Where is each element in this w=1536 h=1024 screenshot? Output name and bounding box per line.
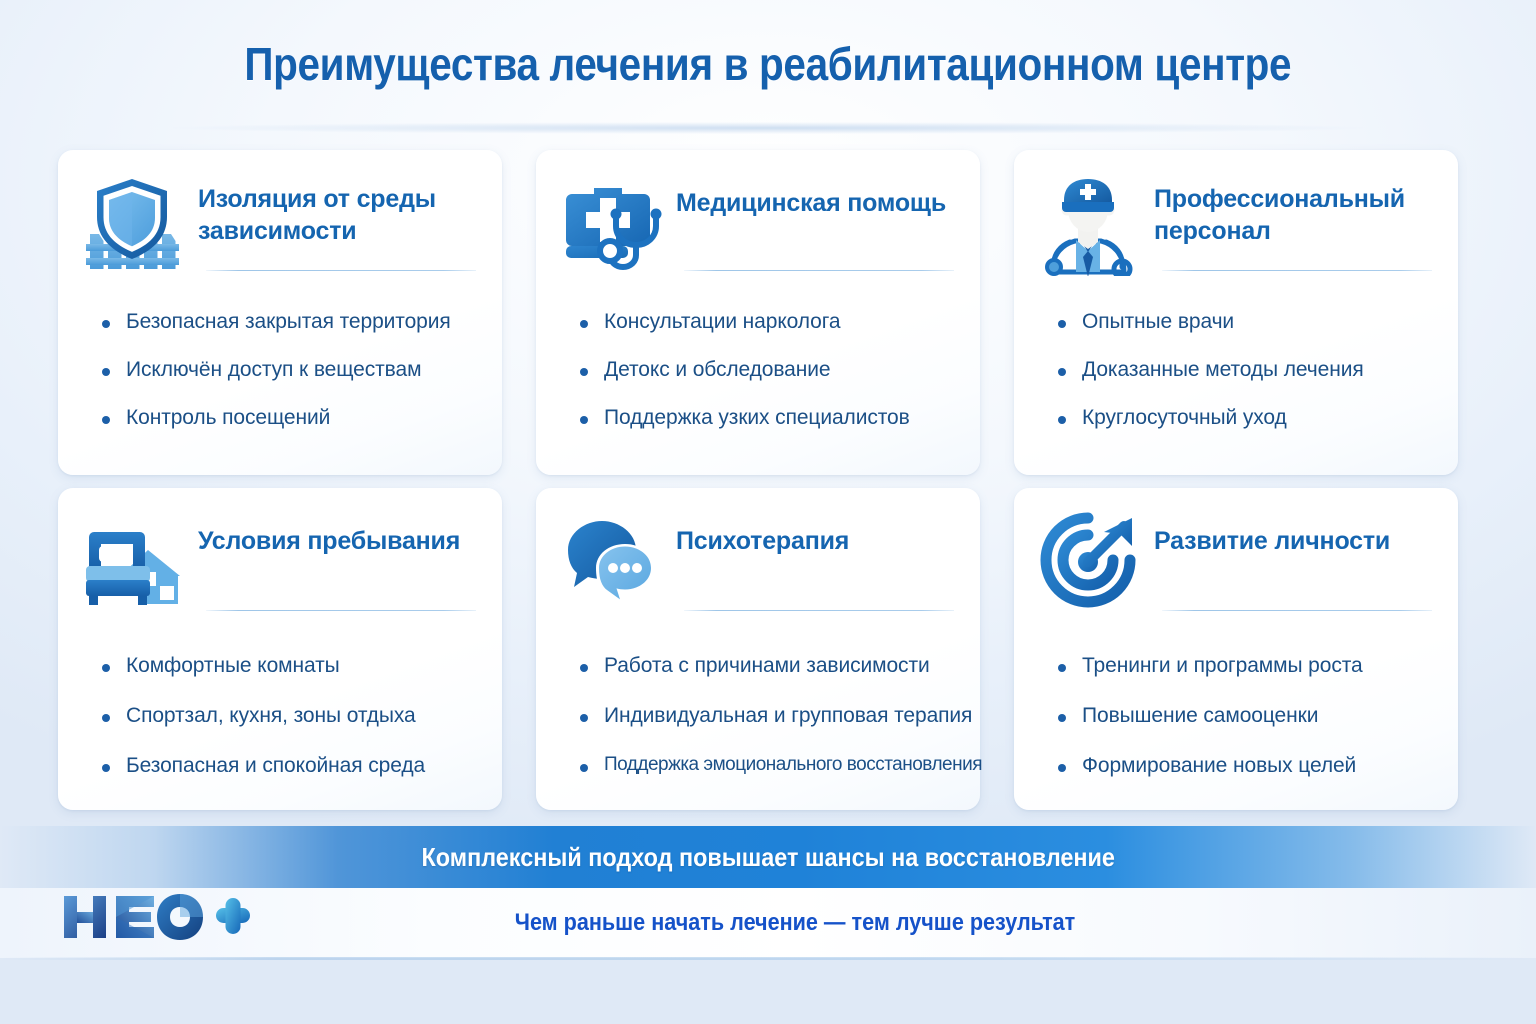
list-item: Доказанные методы лечения (1056, 358, 1432, 382)
list-item: Исключён доступ к веществам (100, 358, 476, 382)
benefit-card-accommodation[interactable]: Условия пребывания Комфортные комнаты Сп… (58, 488, 502, 810)
list-item: Поддержка узких специалистов (578, 406, 954, 430)
benefit-list: Комфортные комнаты Спортзал, кухня, зоны… (84, 654, 476, 778)
list-item: Спортзал, кухня, зоны отдыха (100, 704, 476, 728)
card-title: Профессиональный персонал (1154, 176, 1432, 247)
card-title: Условия пребывания (198, 514, 460, 558)
footer-banner-text: Комплексный подход повышает шансы на вос… (421, 842, 1114, 873)
card-divider (206, 270, 476, 271)
list-item: Формирование новых целей (1056, 754, 1432, 778)
benefit-list: Безопасная закрытая территория Исключён … (84, 310, 476, 430)
card-divider (1162, 270, 1432, 271)
card-header: Профессиональный персонал (1040, 176, 1432, 280)
page-title: Преимущества лечения в реабилитационном … (245, 37, 1292, 91)
bed-house-icon (80, 510, 184, 614)
card-header: Развитие личности (1040, 514, 1432, 618)
doctor-icon (1036, 172, 1140, 276)
benefit-list: Консультации нарколога Детокс и обследов… (562, 310, 954, 430)
card-title: Психотерапия (676, 514, 849, 558)
benefit-card-psychotherapy[interactable]: Психотерапия Работа с причинами зависимо… (536, 488, 980, 810)
benefit-card-personal-growth[interactable]: Развитие личности Тренинги и программы р… (1014, 488, 1458, 810)
benefit-card-isolation[interactable]: Изоляция от среды зависимости Безопасная… (58, 150, 502, 475)
list-item: Детокс и обследование (578, 358, 954, 382)
card-header: Условия пребывания (84, 514, 476, 618)
footer-subtitle: Чем раньше начать лечение — тем лучше ре… (77, 909, 1459, 937)
list-item: Безопасная и спокойная среда (100, 754, 476, 778)
list-item: Поддержка эмоционального восстановления (578, 754, 954, 776)
list-item: Индивидуальная и групповая терапия (578, 704, 954, 728)
card-header: Медицинская помощь (562, 176, 954, 280)
card-divider (684, 610, 954, 611)
neo-plus-logo[interactable] (58, 886, 253, 948)
list-item: Комфортные комнаты (100, 654, 476, 678)
list-item: Контроль посещений (100, 406, 476, 430)
card-title: Медицинская помощь (676, 176, 946, 220)
footer-underline-decoration (0, 957, 1536, 960)
card-title: Изоляция от среды зависимости (198, 176, 476, 247)
list-item: Тренинги и программы роста (1056, 654, 1432, 678)
benefits-grid: Изоляция от среды зависимости Безопасная… (58, 150, 1458, 810)
card-divider (206, 610, 476, 611)
target-arrow-icon (1036, 510, 1140, 614)
speech-bubbles-icon (558, 510, 662, 614)
benefit-card-staff[interactable]: Профессиональный персонал Опытные врачи … (1014, 150, 1458, 475)
card-divider (1162, 610, 1432, 611)
footer-banner: Комплексный подход повышает шансы на вос… (0, 826, 1536, 888)
benefit-card-medical-help[interactable]: Медицинская помощь Консультации нарколог… (536, 150, 980, 475)
page-header: Преимущества лечения в реабилитационном … (0, 0, 1536, 128)
list-item: Опытные врачи (1056, 310, 1432, 334)
card-divider (684, 270, 954, 271)
benefit-list: Опытные врачи Доказанные методы лечения … (1040, 310, 1432, 430)
card-title: Развитие личности (1154, 514, 1390, 558)
card-header: Психотерапия (562, 514, 954, 618)
list-item: Безопасная закрытая территория (100, 310, 476, 334)
medical-bag-stethoscope-icon (558, 172, 662, 276)
list-item: Круглосуточный уход (1056, 406, 1432, 430)
shield-fence-icon (80, 172, 184, 276)
benefit-list: Работа с причинами зависимости Индивидуа… (562, 654, 954, 776)
card-header: Изоляция от среды зависимости (84, 176, 476, 280)
list-item: Работа с причинами зависимости (578, 654, 954, 678)
benefit-list: Тренинги и программы роста Повышение сам… (1040, 654, 1432, 778)
list-item: Консультации нарколога (578, 310, 954, 334)
list-item: Повышение самооценки (1056, 704, 1432, 728)
